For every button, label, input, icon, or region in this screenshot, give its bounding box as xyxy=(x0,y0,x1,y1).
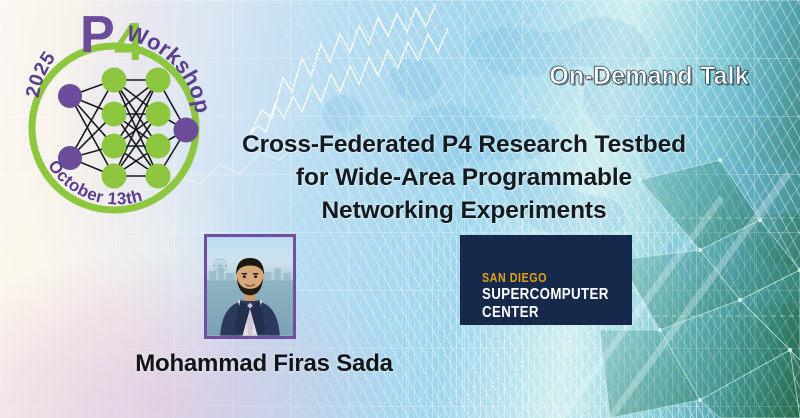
title-line-1: Cross-Federated P4 Research Testbed xyxy=(212,128,716,161)
p4-workshop-logo: P 4 2025 Workshop October 13th xyxy=(14,6,214,238)
logo-wordmark-p: P xyxy=(80,6,115,64)
title-line-2: for Wide-Area Programmable xyxy=(212,161,716,194)
neural-network-nodes xyxy=(58,68,199,189)
talk-announcement-banner: P 4 2025 Workshop October 13th On-Demand… xyxy=(0,0,800,418)
sdsc-logo-line2: SUPERCOMPUTER CENTER xyxy=(482,286,611,322)
neural-network-edges xyxy=(70,80,186,176)
speaker-name: Mohammad Firas Sada xyxy=(104,350,424,378)
sdsc-logo: SAN DIEGO SUPERCOMPUTER CENTER xyxy=(460,235,632,325)
speaker-portrait-illustration xyxy=(207,237,293,336)
speaker-photo xyxy=(204,234,296,339)
title-line-3: Networking Experiments xyxy=(212,194,716,227)
talk-title: Cross-Federated P4 Research Testbed for … xyxy=(212,128,716,227)
sdsc-logo-line1: SAN DIEGO xyxy=(482,271,611,285)
logo-arc-date: October 13th xyxy=(44,157,144,209)
on-demand-talk-badge: On-Demand Talk xyxy=(520,62,778,91)
